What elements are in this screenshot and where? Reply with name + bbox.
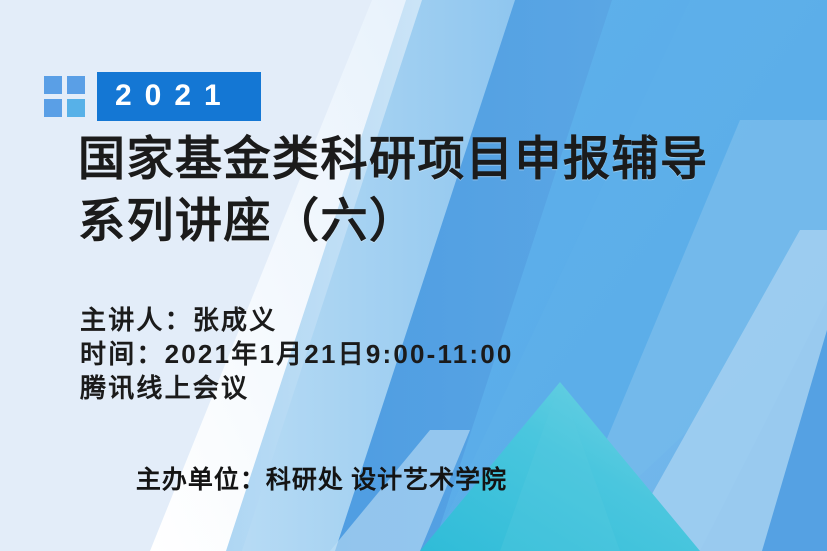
grid-square-2 [67, 76, 85, 94]
poster-title: 国家基金类科研项目申报辅导 系列讲座（六） [78, 128, 808, 252]
event-details: 主讲人：张成义 时间：2021年1月21日9:00-11:00 腾讯线上会议 [80, 303, 514, 405]
poster-content: 2021 国家基金类科研项目申报辅导 系列讲座（六） 主讲人：张成义 时间：20… [0, 0, 827, 551]
year-row: 2021 [44, 72, 261, 121]
grid-square-4 [67, 99, 85, 117]
grid-four-squares-icon [44, 76, 85, 117]
venue-line: 腾讯线上会议 [80, 371, 514, 405]
organizer-line: 主办单位：科研处 设计艺术学院 [136, 460, 507, 496]
poster-canvas: 2021 国家基金类科研项目申报辅导 系列讲座（六） 主讲人：张成义 时间：20… [0, 0, 827, 551]
footer: 主办单位：科研处 设计艺术学院 [0, 460, 827, 496]
title-line-2: 系列讲座（六） [78, 190, 808, 252]
time-line: 时间：2021年1月21日9:00-11:00 [80, 337, 514, 371]
year-badge: 2021 [97, 72, 261, 121]
speaker-line: 主讲人：张成义 [80, 303, 514, 337]
grid-square-3 [44, 99, 62, 117]
title-line-1: 国家基金类科研项目申报辅导 [78, 128, 808, 190]
grid-square-1 [44, 76, 62, 94]
